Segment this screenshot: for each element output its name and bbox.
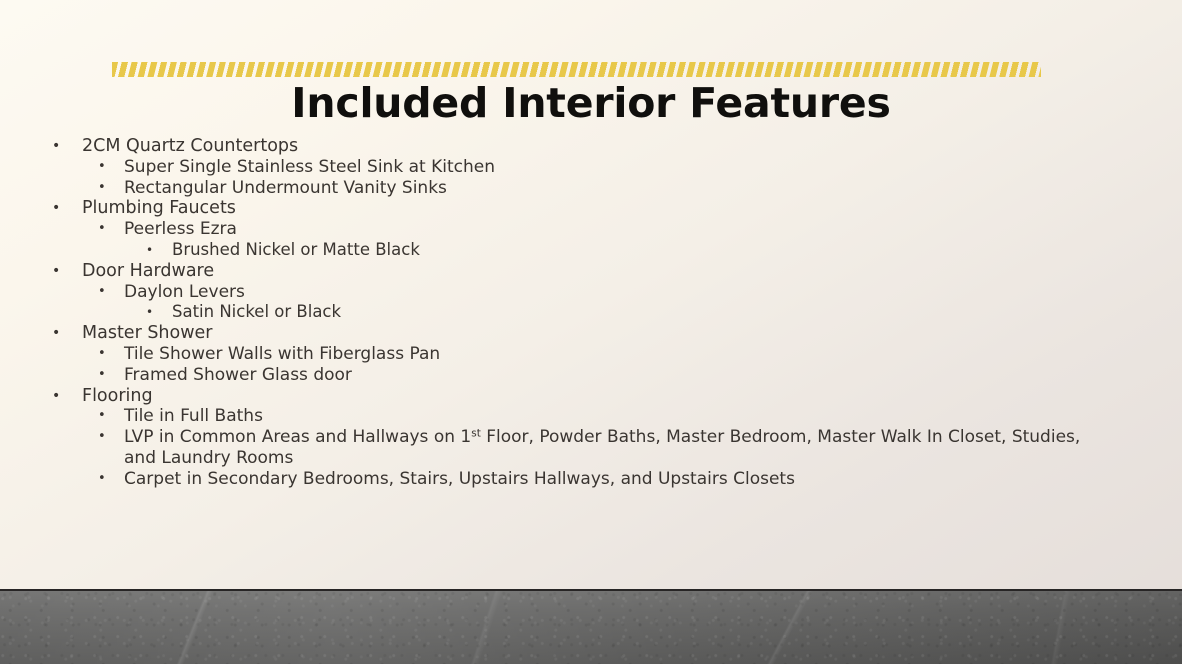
ordinal-suffix: st: [471, 428, 481, 440]
bullet-marker-icon: •: [52, 386, 60, 407]
bullet-marker-icon: •: [98, 157, 106, 178]
bullet-marker-icon: •: [98, 219, 106, 240]
bullet-marker-icon: •: [98, 282, 106, 303]
bullet-item-label: Rectangular Undermount Vanity Sinks: [124, 178, 1182, 199]
bullet-item-label: Master Shower: [82, 323, 1182, 344]
bullet-item-level-1: •Flooring: [0, 386, 1182, 407]
bullet-item-label: Peerless Ezra: [124, 219, 1182, 240]
bullet-item-label: Daylon Levers: [124, 282, 1182, 303]
bullet-item-level-2: •Super Single Stainless Steel Sink at Ki…: [0, 157, 1182, 178]
decorative-striped-rule: [112, 62, 1041, 77]
stone-texture-photo-band: [0, 591, 1182, 664]
feature-bullet-list: •2CM Quartz Countertops•Super Single Sta…: [0, 136, 1182, 490]
bullet-marker-icon: •: [98, 427, 106, 448]
bullet-item-level-3: •Brushed Nickel or Matte Black: [0, 240, 1182, 261]
bullet-item-level-1: •Plumbing Faucets: [0, 198, 1182, 219]
bullet-item-label: Satin Nickel or Black: [172, 302, 1182, 323]
bullet-item-level-2: •Peerless Ezra: [0, 219, 1182, 240]
bullet-item-label: LVP in Common Areas and Hallways on 1st …: [124, 427, 1092, 469]
bullet-marker-icon: •: [98, 365, 106, 386]
bullet-item-level-2: •LVP in Common Areas and Hallways on 1st…: [0, 427, 1092, 469]
bullet-marker-icon: •: [146, 240, 153, 261]
bullet-marker-icon: •: [52, 136, 60, 157]
bullet-marker-icon: •: [52, 198, 60, 219]
bullet-item-level-2: •Tile in Full Baths: [0, 406, 1182, 427]
bullet-marker-icon: •: [98, 344, 106, 365]
bullet-item-level-1: •Master Shower: [0, 323, 1182, 344]
bullet-item-label: Framed Shower Glass door: [124, 365, 1182, 386]
bullet-item-level-2: •Daylon Levers: [0, 282, 1182, 303]
bullet-marker-icon: •: [98, 406, 106, 427]
bullet-item-level-2: •Carpet in Secondary Bedrooms, Stairs, U…: [0, 469, 1182, 490]
bullet-item-label: Flooring: [82, 386, 1182, 407]
bullet-item-label: Tile in Full Baths: [124, 406, 1182, 427]
bullet-item-level-2: •Tile Shower Walls with Fiberglass Pan: [0, 344, 1182, 365]
bullet-item-label: Super Single Stainless Steel Sink at Kit…: [124, 157, 1182, 178]
bullet-item-level-1: •2CM Quartz Countertops: [0, 136, 1182, 157]
bullet-item-label: Tile Shower Walls with Fiberglass Pan: [124, 344, 1182, 365]
bullet-item-label: Brushed Nickel or Matte Black: [172, 240, 1182, 261]
bullet-item-level-2: •Framed Shower Glass door: [0, 365, 1182, 386]
slide-title: Included Interior Features: [0, 81, 1182, 127]
bullet-item-level-3: •Satin Nickel or Black: [0, 302, 1182, 323]
bullet-item-label: Plumbing Faucets: [82, 198, 1182, 219]
bullet-marker-icon: •: [52, 261, 60, 282]
bullet-item-label: Door Hardware: [82, 261, 1182, 282]
bullet-item-label: 2CM Quartz Countertops: [82, 136, 1182, 157]
bullet-marker-icon: •: [52, 323, 60, 344]
bullet-item-level-1: •Door Hardware: [0, 261, 1182, 282]
bullet-marker-icon: •: [98, 469, 106, 490]
bullet-marker-icon: •: [146, 302, 153, 323]
presentation-slide: Included Interior Features •2CM Quartz C…: [0, 0, 1182, 664]
bullet-item-level-2: •Rectangular Undermount Vanity Sinks: [0, 178, 1182, 199]
bullet-marker-icon: •: [98, 178, 106, 199]
bullet-item-label: Carpet in Secondary Bedrooms, Stairs, Up…: [124, 469, 1182, 490]
